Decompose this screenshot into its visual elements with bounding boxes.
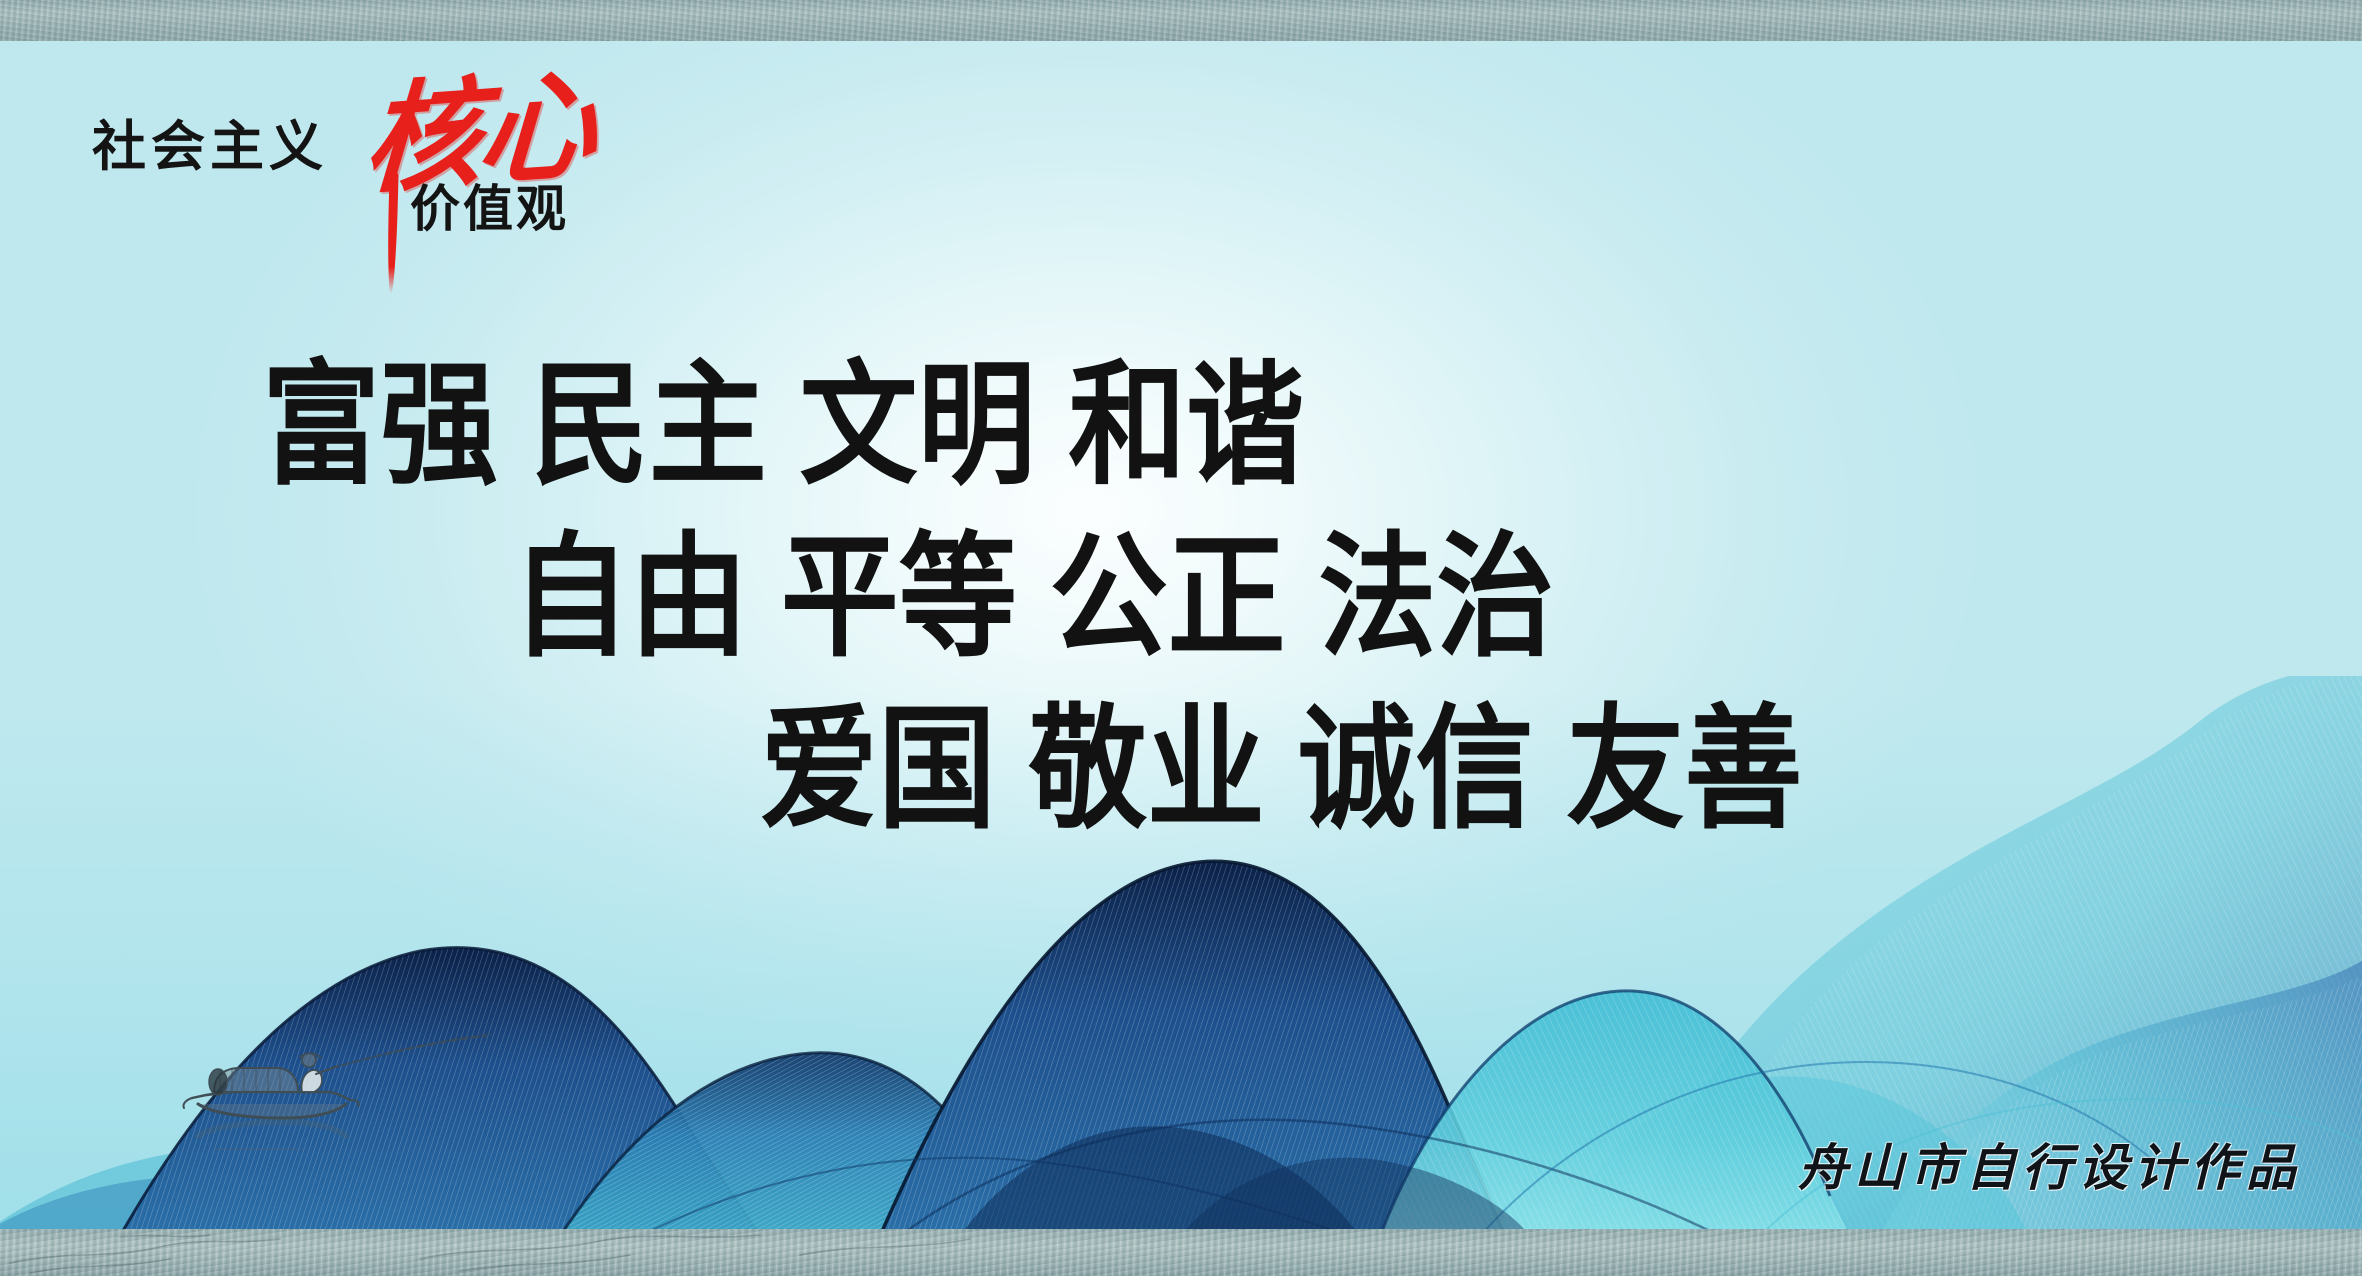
slogan-block: 富强 民主 文明 和谐 自由 平等 公正 法治 爱国 敬业 诚信 友善	[0, 352, 2362, 844]
poster-canvas: 社会主义 核心 价值观 富强 民主 文明 和谐 自由 平等 公正 法治 爱国 敬…	[0, 0, 2362, 1276]
credit-text: 舟山市自行设计作品	[1798, 1128, 2302, 1200]
slogan-line-2: 自由 平等 公正 法治	[512, 514, 2362, 683]
ink-boat-illustration	[180, 1000, 520, 1150]
logo-suffix-text: 价值观	[410, 184, 569, 234]
slogan-line-3: 爱国 敬业 诚信 友善	[760, 686, 2362, 855]
logo-prefix-text: 社会主义	[92, 120, 328, 174]
logo-block: 社会主义 核心 价值观	[92, 110, 732, 260]
frame-top-band	[0, 0, 2362, 41]
frame-bottom-band	[0, 1229, 2362, 1276]
slogan-line-1: 富强 民主 文明 和谐	[262, 342, 2362, 511]
